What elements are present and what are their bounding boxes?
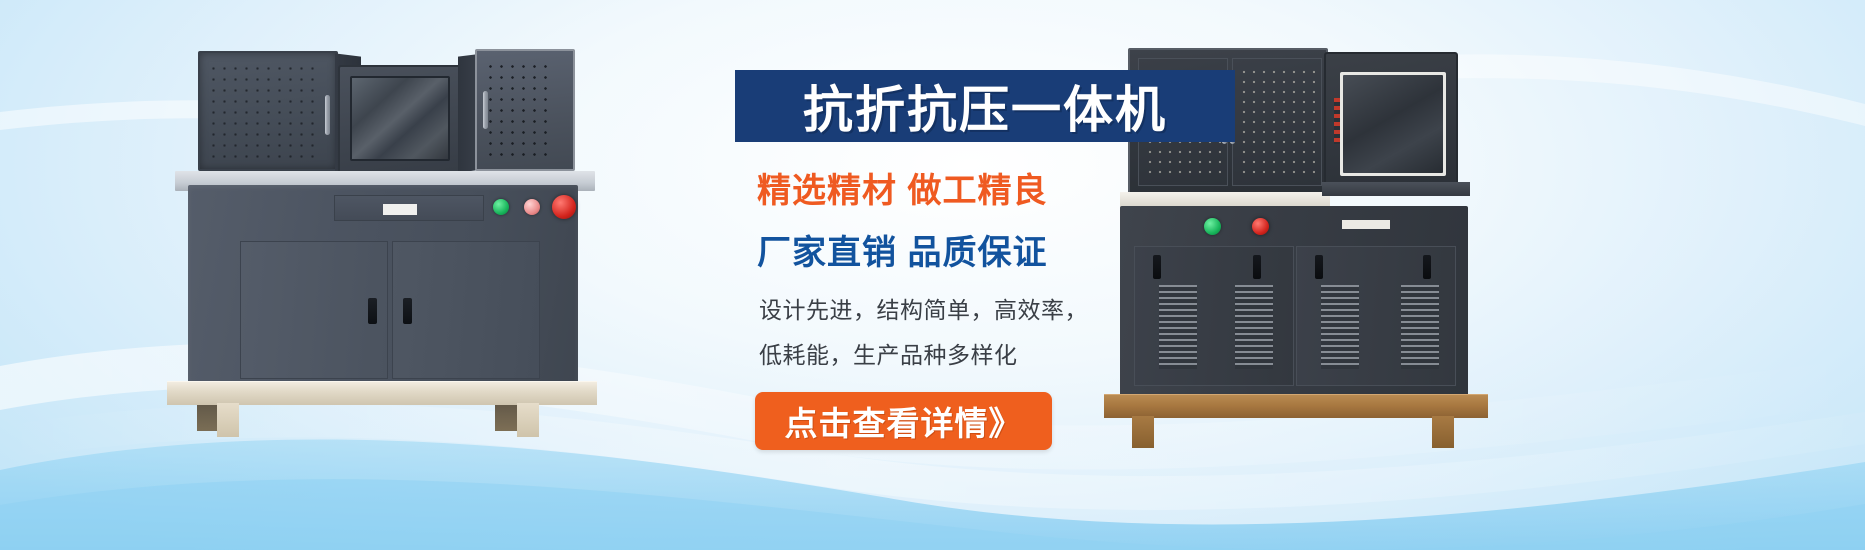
description-line-2: 低耗能，生产品种多样化 — [759, 336, 1255, 370]
left-machine-upper-right-door — [475, 49, 575, 171]
description-line-1: 设计先进，结构简单，高效率， — [759, 291, 1255, 325]
panel-label-plate — [1342, 220, 1390, 229]
left-machine-lower-door-right — [392, 241, 540, 379]
pallet-leg — [217, 403, 239, 437]
monitor-screen — [1343, 75, 1443, 173]
promo-text-block: 抗折抗压一体机 精选精材 做工精良 厂家直销 品质保证 设计先进，结构简单，高效… — [735, 70, 1255, 450]
perforated-panel-icon — [485, 61, 553, 159]
cabinet-handle — [1315, 255, 1323, 279]
page-title: 抗折抗压一体机 — [803, 70, 1167, 142]
title-banner-bar: 抗折抗压一体机 — [735, 70, 1235, 142]
right-machine-lower-door-right — [1296, 246, 1456, 386]
indicator-green — [493, 199, 509, 215]
cabinet-handle — [1423, 255, 1431, 279]
cabinet-handle — [368, 298, 377, 324]
monitor-screen — [350, 76, 450, 161]
indicator-red-emergency — [552, 195, 576, 219]
indicator-pink — [524, 199, 540, 215]
left-machine-wooden-pallet — [167, 381, 597, 405]
promo-banner: 抗折抗压一体机 精选精材 做工精良 厂家直销 品质保证 设计先进，结构简单，高效… — [0, 0, 1865, 550]
left-machine-control-drawer — [334, 195, 484, 221]
pallet-leg — [1432, 416, 1454, 448]
perforated-panel-icon — [208, 63, 316, 159]
left-machine-lower-door-left — [240, 241, 388, 379]
view-details-button-label: 点击查看详情》 — [785, 397, 1023, 445]
ventilation-louver — [1321, 285, 1359, 369]
monitor-bezel — [1340, 72, 1446, 176]
pallet-leg — [517, 403, 539, 437]
drawer-label-plate — [383, 204, 417, 215]
ventilation-louver — [1401, 285, 1439, 369]
door-handle — [325, 95, 330, 135]
cabinet-handle — [403, 298, 412, 324]
left-machine-monitor-housing — [338, 65, 462, 177]
left-machine-main-body — [188, 185, 578, 383]
subtitle-orange: 精选精材 做工精良 — [757, 163, 1255, 212]
product-image-left-machine — [175, 45, 595, 445]
view-details-button[interactable]: 点击查看详情》 — [755, 392, 1052, 450]
door-handle — [483, 91, 488, 129]
subtitle-blue: 厂家直销 品质保证 — [757, 225, 1255, 274]
left-machine-upper-left-door — [198, 51, 338, 171]
right-machine-monitor-housing — [1324, 52, 1458, 192]
right-machine-shelf — [1322, 182, 1470, 196]
